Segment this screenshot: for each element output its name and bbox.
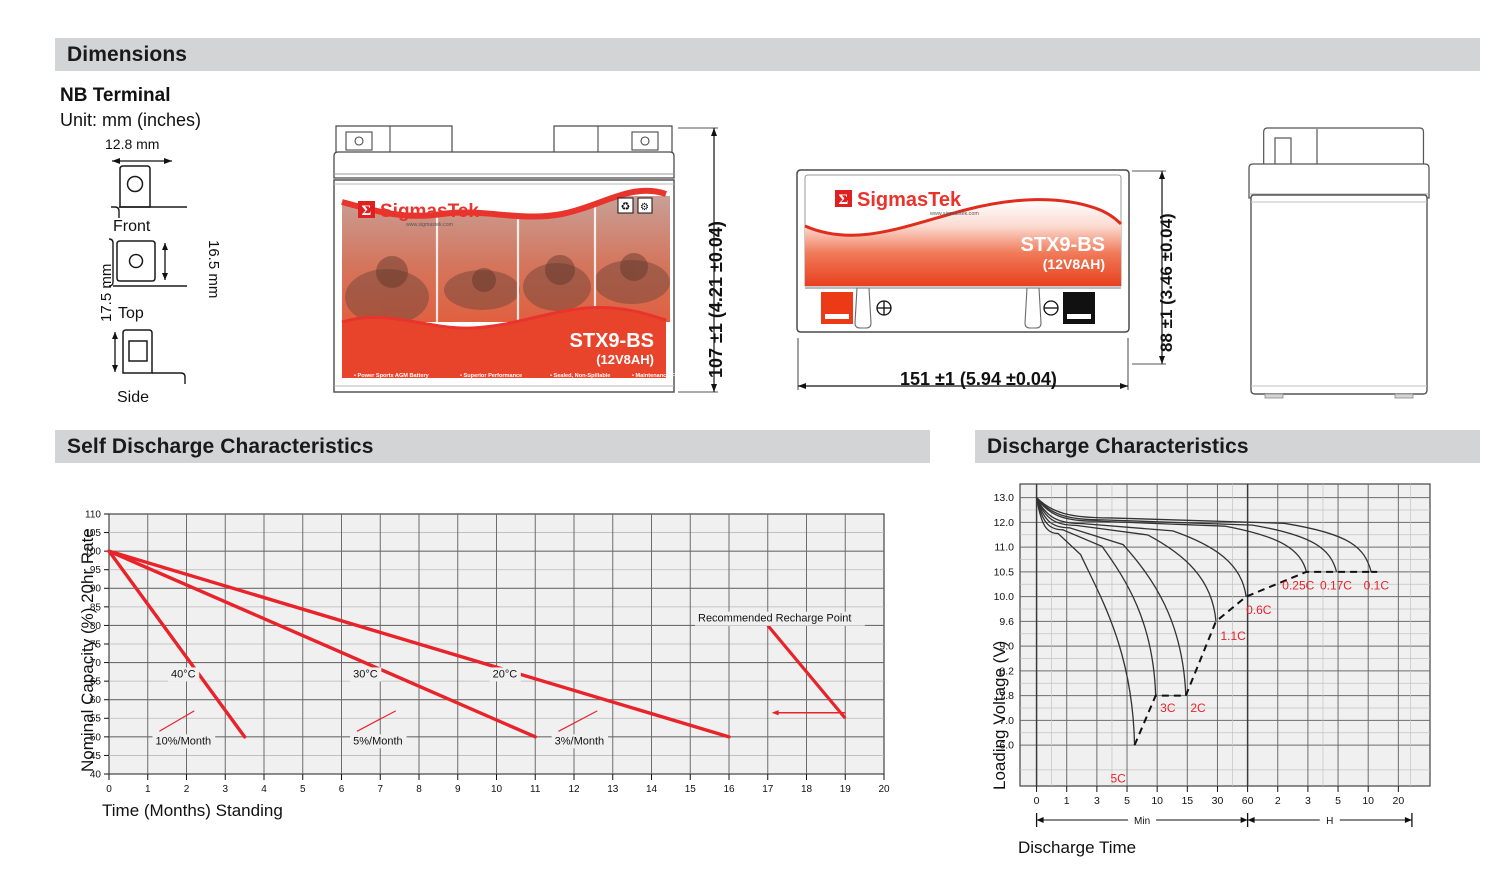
y-tick-label: 12.0 — [994, 517, 1015, 529]
section-header-self-discharge: Self Discharge Characteristics — [55, 430, 930, 463]
svg-text:• Power Sports AGM Battery: • Power Sports AGM Battery — [354, 373, 430, 379]
self-discharge-y-axis-label: Nominal Capacity (%) 20hr Rate — [78, 528, 98, 772]
annotation-5: 3%/Month — [555, 735, 605, 747]
height-dimension-label: 107 ±1 (4.21 ±0.04) — [706, 221, 727, 378]
curve-label-0.17C: 0.17C — [1320, 579, 1352, 593]
section-header-discharge: Discharge Characteristics — [975, 430, 1480, 463]
svg-text:STX9-BS: STX9-BS — [1021, 234, 1105, 256]
section-title-discharge: Discharge Characteristics — [975, 435, 1249, 459]
x-tick-label: 5 — [1335, 795, 1341, 807]
x-tick-label: 7 — [377, 784, 383, 795]
y-tick-label: 10.0 — [994, 591, 1015, 603]
x-tick-label: 0 — [1034, 795, 1040, 807]
y-tick-label: 10.5 — [994, 566, 1015, 578]
x-tick-label: 8 — [416, 784, 422, 795]
range-label-min: Min — [1134, 816, 1150, 827]
x-tick-label: 18 — [801, 784, 813, 795]
battery-rear-image — [1243, 122, 1433, 402]
x-tick-label: 12 — [568, 784, 580, 795]
x-tick-label: 20 — [1393, 795, 1405, 807]
svg-text:• Superior Performance: • Superior Performance — [460, 373, 522, 379]
x-tick-label: 10 — [1362, 795, 1374, 807]
terminal-width-label: 12.8 mm — [105, 136, 159, 152]
x-tick-label: 13 — [607, 784, 619, 795]
x-tick-label: 3 — [222, 784, 228, 795]
range-arrowhead — [1241, 817, 1248, 823]
terminal-top-label: Top — [118, 305, 144, 323]
x-tick-label: 1 — [1064, 795, 1070, 807]
nb-terminal-heading: NB Terminal — [60, 85, 171, 107]
y-tick-label: 13.0 — [994, 492, 1015, 504]
svg-text:• Sealed, Non-Spillable: • Sealed, Non-Spillable — [550, 373, 610, 379]
curve-label-2C: 2C — [1190, 701, 1206, 715]
section-title-dimensions: Dimensions — [55, 43, 187, 67]
annotation-0: 40°C — [171, 668, 196, 680]
x-tick-label: 6 — [339, 784, 345, 795]
svg-text:Σ: Σ — [839, 192, 849, 208]
range-label-hour: H — [1326, 816, 1333, 827]
curve-label-5C: 5C — [1110, 772, 1126, 786]
x-tick-label: 15 — [1181, 795, 1193, 807]
curve-label-0.6C: 0.6C — [1246, 603, 1272, 617]
discharge-x-axis-label: Discharge Time — [1018, 838, 1136, 858]
y-tick-label: 9.6 — [999, 616, 1014, 628]
terminal-depth-label: 16.5 mm — [205, 240, 222, 298]
battery-side-image: Σ SigmasTek www.sigmastek.com STX9-BS (1… — [795, 168, 1131, 363]
annotation-6: Recommended Recharge Point — [698, 613, 851, 625]
terminal-side-view — [85, 325, 215, 390]
curve-label-1.1C: 1.1C — [1220, 629, 1246, 643]
x-tick-label: 10 — [491, 784, 503, 795]
svg-text:www.sigmastek.com: www.sigmastek.com — [929, 211, 979, 217]
y-tick-label: 110 — [85, 509, 101, 520]
range-arrowhead — [1037, 817, 1044, 823]
section-title-self-discharge: Self Discharge Characteristics — [55, 435, 373, 459]
svg-text:www.sigmastek.com: www.sigmastek.com — [406, 222, 453, 228]
svg-text:(12V8AH): (12V8AH) — [596, 352, 654, 367]
range-arrowhead — [1248, 817, 1255, 823]
battery-front-image: Σ SigmasTek www.sigmastek.com ♻ ⚙ STX9-B… — [332, 122, 680, 397]
svg-text:STX9-BS: STX9-BS — [570, 330, 654, 352]
curve-label-0.1C: 0.1C — [1364, 579, 1390, 593]
x-tick-label: 1 — [145, 784, 151, 795]
x-tick-label: 2 — [184, 784, 190, 795]
curve-label-0.25C: 0.25C — [1282, 579, 1314, 593]
x-tick-label: 5 — [300, 784, 306, 795]
annotation-1: 30°C — [353, 668, 378, 680]
self-discharge-x-axis-label: Time (Months) Standing — [102, 801, 283, 821]
x-tick-label: 11 — [530, 784, 541, 795]
x-tick-label: 5 — [1124, 795, 1130, 807]
x-tick-label: 3 — [1305, 795, 1311, 807]
svg-text:Σ: Σ — [362, 203, 372, 219]
x-tick-label: 15 — [685, 784, 697, 795]
x-tick-label: 14 — [646, 784, 658, 795]
x-tick-label: 10 — [1151, 795, 1163, 807]
x-tick-label: 4 — [261, 784, 267, 795]
annotation-4: 5%/Month — [353, 735, 403, 747]
svg-text:⚙: ⚙ — [640, 202, 649, 213]
discharge-y-axis-label: Loading Voltage (V) — [990, 641, 1010, 790]
x-tick-label: 3 — [1094, 795, 1100, 807]
svg-text:SigmasTek: SigmasTek — [380, 201, 479, 222]
discharge-plot: 13.012.011.010.510.09.69.08.27.87.06.001… — [975, 478, 1440, 853]
x-tick-label: 0 — [106, 784, 112, 795]
svg-text:♻: ♻ — [621, 201, 631, 213]
section-header-dimensions: Dimensions — [55, 38, 1480, 71]
terminal-front-label: Front — [113, 218, 150, 236]
svg-text:(12V8AH): (12V8AH) — [1043, 256, 1105, 272]
x-tick-label: 17 — [762, 784, 774, 795]
range-arrowhead — [1405, 817, 1412, 823]
terminal-side-label: Side — [117, 389, 149, 407]
annotation-3: 10%/Month — [156, 735, 212, 747]
x-tick-label: 19 — [840, 784, 852, 795]
self-discharge-plot: 4045505560657075808590951001051100123456… — [55, 500, 895, 830]
discharge-chart: 13.012.011.010.510.09.69.08.27.87.06.001… — [975, 478, 1440, 853]
x-tick-label: 16 — [723, 784, 735, 795]
case-height-dimension-label: 88 ±1 (3.46 ±0.04) — [1157, 213, 1177, 352]
x-tick-label: 30 — [1212, 795, 1224, 807]
x-tick-label: 9 — [455, 784, 461, 795]
terminal-height-label: 17.5 mm — [98, 264, 115, 322]
x-tick-label: 60 — [1242, 795, 1254, 807]
curve-label-3C: 3C — [1160, 701, 1176, 715]
svg-text:SigmasTek: SigmasTek — [857, 189, 962, 211]
x-tick-label: 2 — [1275, 795, 1281, 807]
x-tick-label: 20 — [878, 784, 890, 795]
annotation-2: 20°C — [493, 668, 518, 680]
length-dimension-label: 151 ±1 (5.94 ±0.04) — [900, 369, 1057, 390]
unit-note: Unit: mm (inches) — [60, 110, 201, 131]
self-discharge-chart: 4045505560657075808590951001051100123456… — [55, 500, 895, 830]
y-tick-label: 11.0 — [994, 542, 1014, 554]
svg-text:• Maintenance-Free: • Maintenance-Free — [632, 373, 683, 379]
datasheet-page: Dimensions NB Terminal Unit: mm (inches)… — [0, 0, 1500, 870]
